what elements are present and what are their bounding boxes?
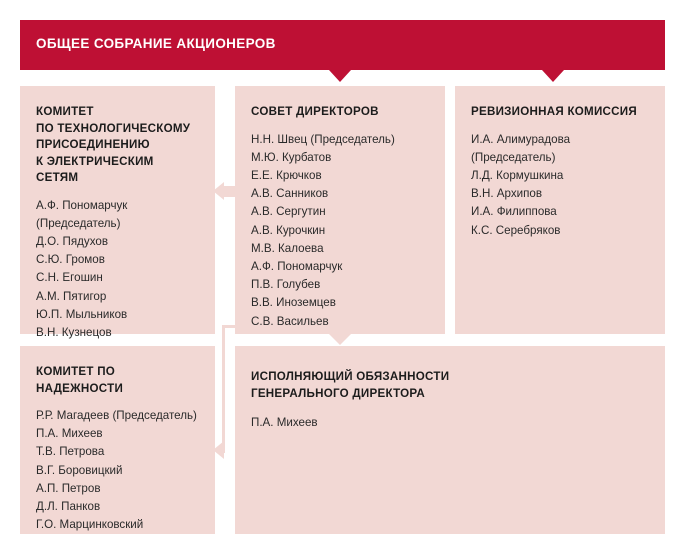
list-item: Р.Р. Магадеев (Председатель) xyxy=(36,407,199,425)
box-tech-committee-members: А.Ф. Пономарчук (Председатель) Д.О. Пяду… xyxy=(36,197,199,343)
list-item: А.В. Сергутин xyxy=(251,203,429,221)
list-item: Т.В. Петрова xyxy=(36,443,199,461)
list-item: А.Ф. Пономарчук (Председатель) xyxy=(36,197,199,233)
box-reliability-committee-title: КОМИТЕТ ПО НАДЕЖНОСТИ xyxy=(36,364,199,397)
list-item: А.В. Курочкин xyxy=(251,222,429,240)
list-item: П.А. Михеев xyxy=(36,425,199,443)
box-reliability-committee: КОМИТЕТ ПО НАДЕЖНОСТИ Р.Р. Магадеев (Пре… xyxy=(20,346,215,534)
list-item: К.С. Серебряков xyxy=(471,222,649,240)
list-item: Д.Л. Панков xyxy=(36,498,199,516)
arrow-down-icon-header-to-audit xyxy=(542,70,564,82)
shareholders-meeting-header: ОБЩЕЕ СОБРАНИЕ АКЦИОНЕРОВ xyxy=(20,20,665,70)
list-item: В.Н. Кузнецов xyxy=(36,324,199,342)
list-item: Ю.П. Мыльников xyxy=(36,306,199,324)
list-item: С.Ю. Громов xyxy=(36,251,199,269)
arrow-down-icon-header-to-board xyxy=(329,70,351,82)
list-item: Л.Д. Кормушкина xyxy=(471,167,649,185)
arrow-left-icon-board-to-reliability-committee xyxy=(213,441,224,459)
list-item: И.А. Филиппова xyxy=(471,203,649,221)
box-reliability-committee-members: Р.Р. Магадеев (Председатель) П.А. Михеев… xyxy=(36,407,199,534)
box-tech-committee: КОМИТЕТ ПО ТЕХНОЛОГИЧЕСКОМУ ПРИСОЕДИНЕНИ… xyxy=(20,86,215,334)
list-item: М.В. Калоева xyxy=(251,240,429,258)
list-item: Г.О. Марцинковский xyxy=(36,516,199,534)
list-item: А.Ф. Пономарчук xyxy=(251,258,429,276)
box-acting-ceo: ИСПОЛНЯЮЩИЙ ОБЯЗАННОСТИ ГЕНЕРАЛЬНОГО ДИР… xyxy=(235,346,665,534)
list-item: В.В. Иноземцев xyxy=(251,294,429,312)
list-item: С.Н. Егошин xyxy=(36,269,199,287)
list-item: Е.Е. Крючков xyxy=(251,167,429,185)
box-audit-commission-title: РЕВИЗИОННАЯ КОМИССИЯ xyxy=(471,104,649,121)
list-item: А.П. Петров xyxy=(36,480,199,498)
list-item: П.В. Голубев xyxy=(251,276,429,294)
arrow-left-icon-board-to-tech-committee xyxy=(213,182,224,200)
header-title: ОБЩЕЕ СОБРАНИЕ АКЦИОНЕРОВ xyxy=(36,36,276,51)
box-tech-committee-title: КОМИТЕТ ПО ТЕХНОЛОГИЧЕСКОМУ ПРИСОЕДИНЕНИ… xyxy=(36,104,199,187)
box-board-of-directors-title: СОВЕТ ДИРЕКТОРОВ xyxy=(251,104,429,121)
list-item: П.А. Михеев xyxy=(251,414,649,432)
connector-board-to-tech-stub xyxy=(224,186,236,197)
org-chart: ОБЩЕЕ СОБРАНИЕ АКЦИОНЕРОВ КОМИТЕТ ПО ТЕХ… xyxy=(0,0,676,554)
list-item: Д.О. Пядухов xyxy=(36,233,199,251)
list-item: А.В. Санников xyxy=(251,185,429,203)
arrow-down-icon-board-to-ceo xyxy=(329,334,351,345)
connector-vertical-line-to-reliability xyxy=(222,325,225,453)
list-item: А.М. Пятигор xyxy=(36,288,199,306)
list-item: М.Ю. Курбатов xyxy=(251,149,429,167)
box-acting-ceo-members: П.А. Михеев xyxy=(251,414,649,432)
list-item: С.В. Васильев xyxy=(251,313,429,331)
list-item: В.Н. Архипов xyxy=(471,185,649,203)
box-acting-ceo-title: ИСПОЛНЯЮЩИЙ ОБЯЗАННОСТИ ГЕНЕРАЛЬНОГО ДИР… xyxy=(251,368,649,402)
box-board-of-directors: СОВЕТ ДИРЕКТОРОВ Н.Н. Швец (Председатель… xyxy=(235,86,445,334)
list-item: И.А. Алимурадова (Председатель) xyxy=(471,131,649,167)
box-board-of-directors-members: Н.Н. Швец (Председатель) М.Ю. Курбатов Е… xyxy=(251,131,429,331)
box-audit-commission: РЕВИЗИОННАЯ КОМИССИЯ И.А. Алимурадова (П… xyxy=(455,86,665,334)
box-audit-commission-members: И.А. Алимурадова (Председатель) Л.Д. Кор… xyxy=(471,131,649,240)
list-item: В.Г. Боровицкий xyxy=(36,462,199,480)
list-item: Н.Н. Швец (Председатель) xyxy=(251,131,429,149)
